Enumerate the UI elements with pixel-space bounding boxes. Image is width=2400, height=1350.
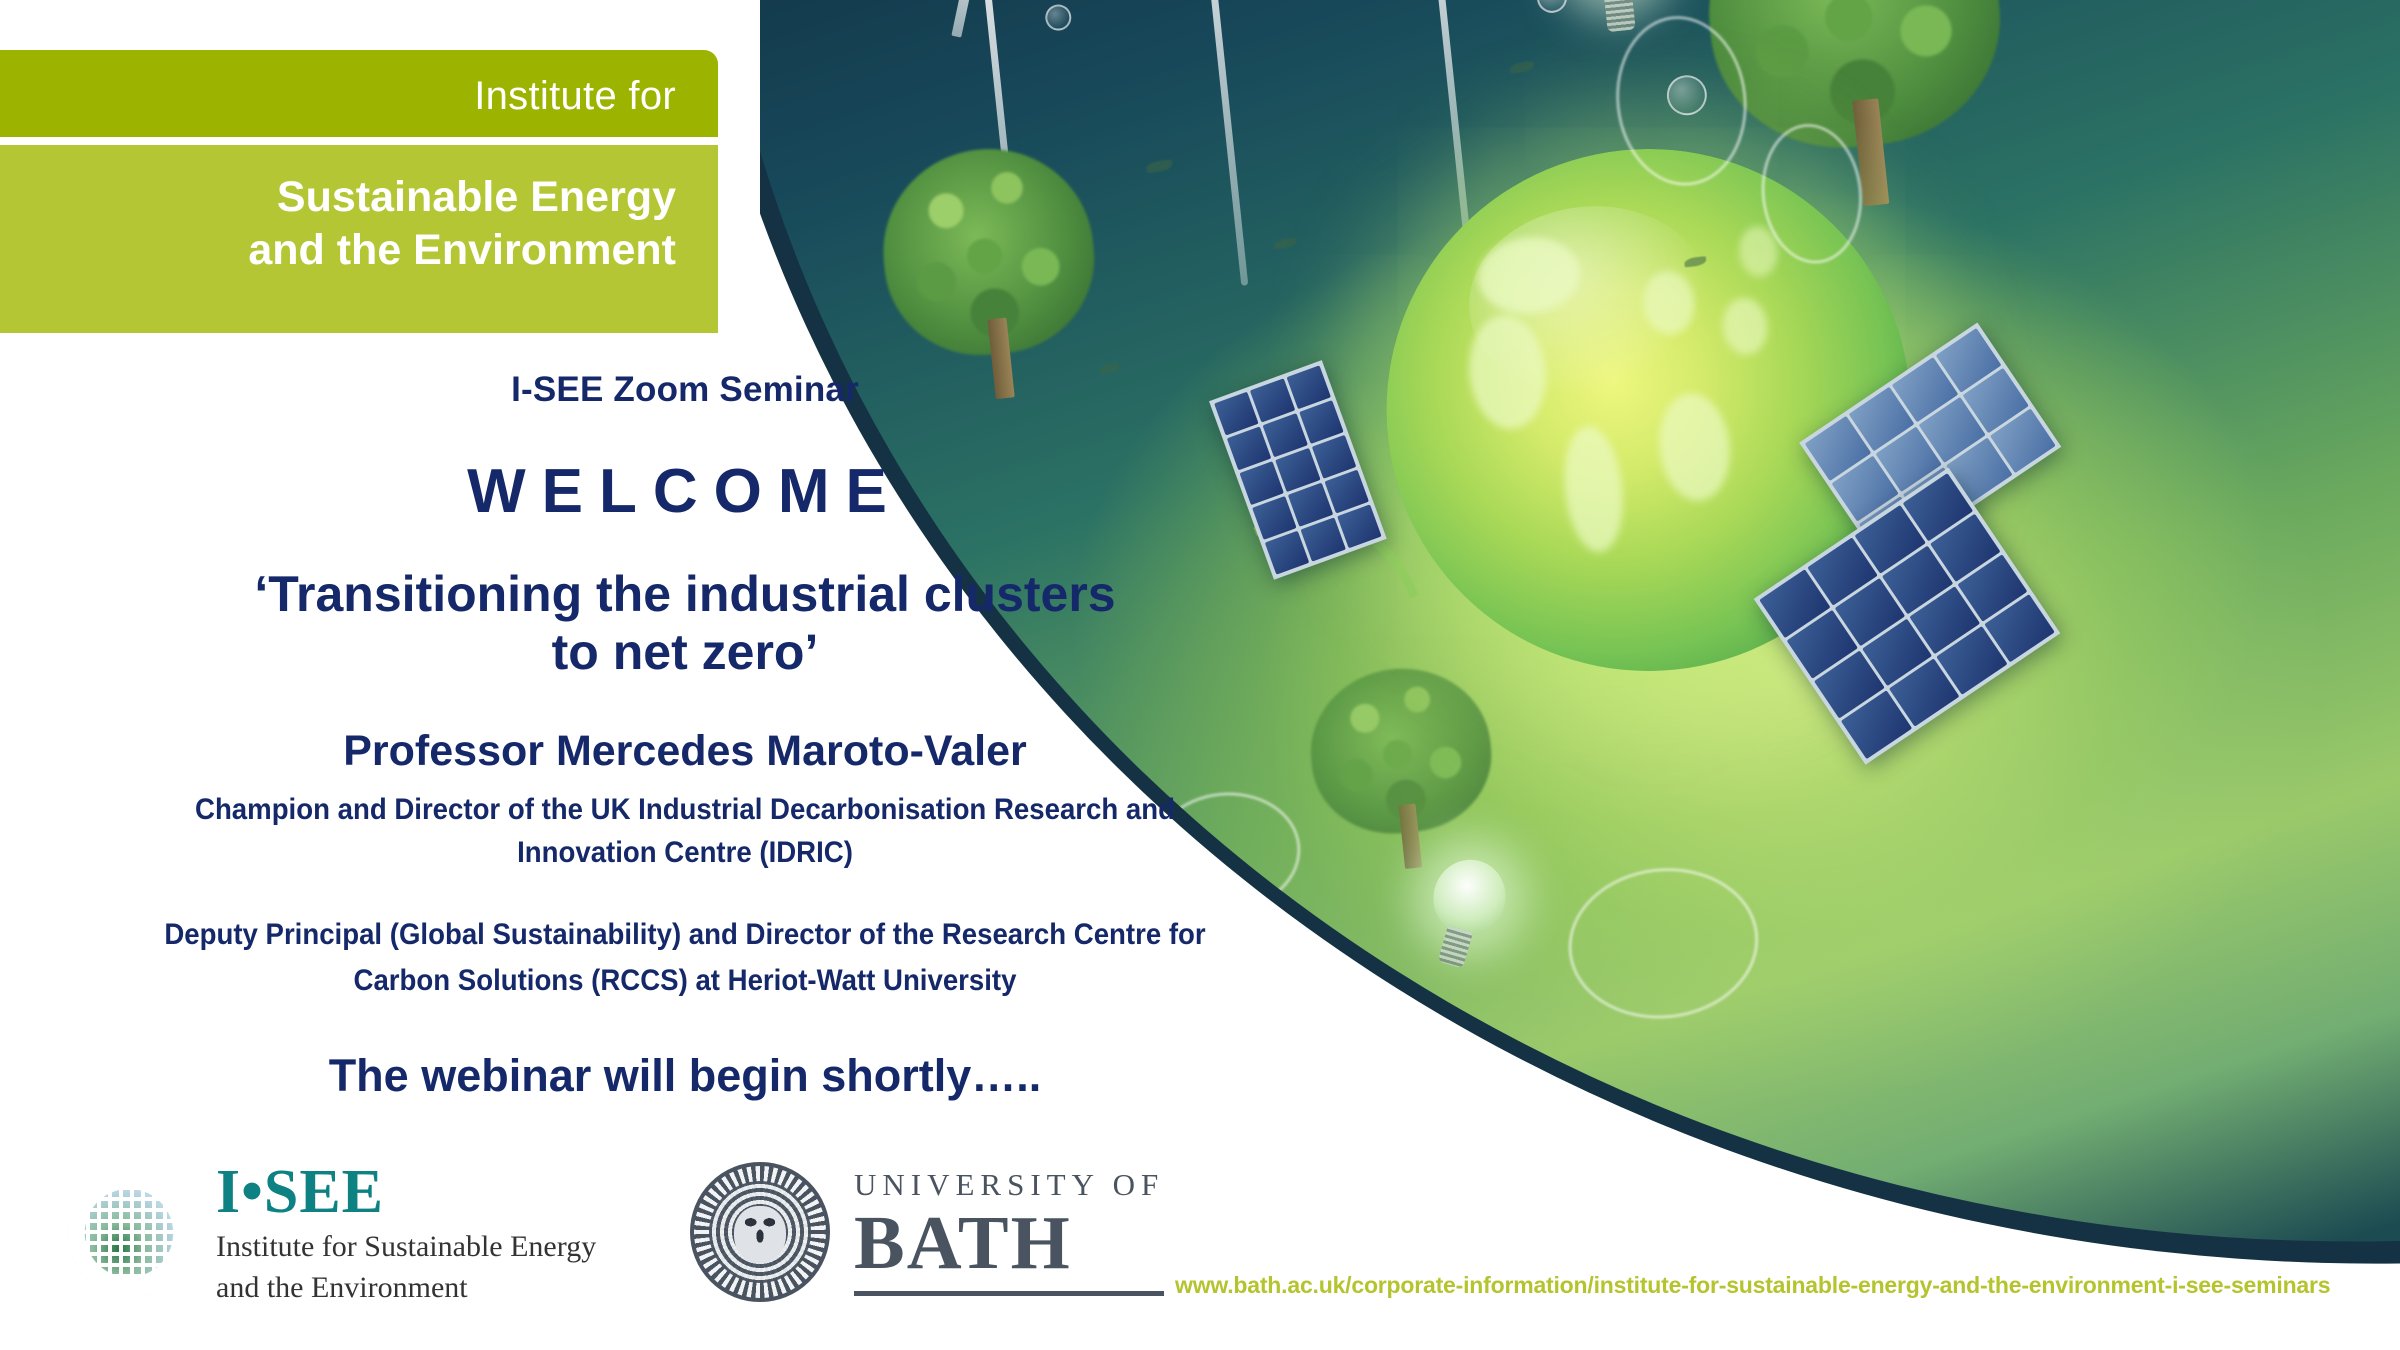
bubble [1536,0,1569,15]
webinar-begin-note: The webinar will begin shortly….. [0,1050,1370,1102]
speaker-role-line-2: Innovation Centre (IDRIC) [55,831,1315,874]
tree-icon [874,139,1109,410]
seminars-url[interactable]: www.bath.ac.uk/corporate-information/ins… [1175,1272,2330,1299]
brand-band-sustainable-energy: Sustainable Energy and the Environment [0,145,718,333]
brand-band-line-2: and the Environment [0,224,676,277]
brand-band-institute-for: Institute for [0,50,718,137]
speaker-role2-line-2: Carbon Solutions (RCCS) at Heriot-Watt U… [55,958,1315,1004]
speaker-role2-line-1: Deputy Principal (Global Sustainability)… [55,912,1315,958]
bath-underline-rule [854,1291,1164,1296]
talk-title-line-1: ‘Transitioning the industrial clusters [0,565,1370,623]
bath-logo-text: UNIVERSITY OF BATH [854,1168,1164,1296]
leaf-fleck [1510,61,1535,73]
speaker-role-rccs: Deputy Principal (Global Sustainability)… [55,912,1315,1004]
seminar-kicker: I-SEE Zoom Seminar [0,370,1370,410]
speaker-role-line-1: Champion and Director of the UK Industri… [55,788,1315,831]
bubble [1044,3,1073,32]
talk-title-line-2: to net zero’ [0,623,1370,681]
slide-root: Institute for Sustainable Energy and the… [0,0,2400,1350]
bath-university-label: UNIVERSITY OF [854,1168,1164,1202]
isee-logo: I•SEE Institute for Sustainable Energy a… [68,1160,596,1306]
brand-band-line-1: Sustainable Energy [0,171,676,224]
bath-seal-icon [690,1162,830,1302]
isee-globe-icon [68,1168,190,1298]
speaker-name: Professor Mercedes Maroto-Valer [0,727,1370,776]
bath-wordmark: BATH [854,1204,1164,1282]
isee-logo-text: I•SEE Institute for Sustainable Energy a… [216,1160,596,1306]
isee-wordmark: I•SEE [216,1160,596,1224]
leaf-fleck [1146,160,1173,174]
isee-tagline-line-2: and the Environment [216,1269,596,1306]
welcome-heading: WELCOME [0,456,1370,527]
isee-tagline-line-1: Institute for Sustainable Energy [216,1228,596,1265]
wind-turbine-icon [1175,0,1271,288]
slide-content: I-SEE Zoom Seminar WELCOME ‘Transitionin… [0,370,1370,1102]
talk-title: ‘Transitioning the industrial clusters t… [0,565,1370,681]
university-of-bath-logo: UNIVERSITY OF BATH [690,1162,1164,1302]
leaf-fleck [1273,238,1296,249]
speaker-role-idric: Champion and Director of the UK Industri… [55,788,1315,874]
